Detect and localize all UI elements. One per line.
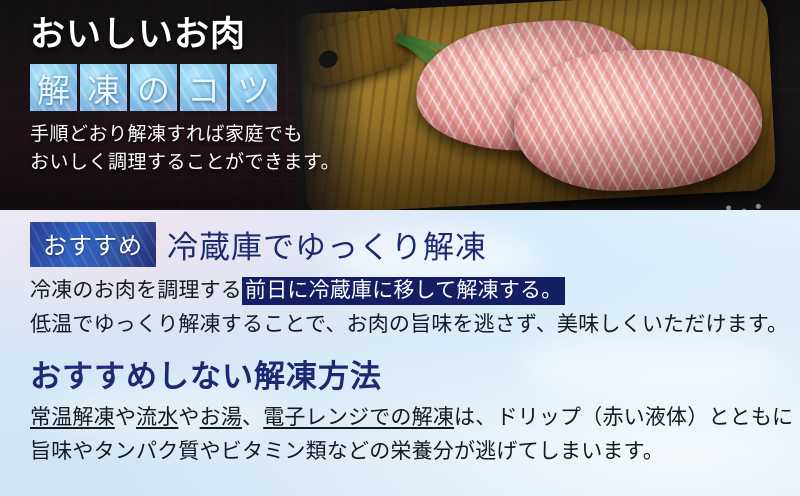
- sep-1: や: [115, 405, 136, 429]
- not-recommended-line-1: 常温解凍や流水やお湯、電子レンジでの解凍は、ドリップ（赤い液体）とともに: [30, 402, 786, 434]
- not-recommended-line-1-tail: は、ドリップ（赤い液体）とともに: [454, 405, 793, 429]
- ice-char-5: ツ: [230, 64, 277, 111]
- content-inner: おすすめ 冷蔵庫でゆっくり解凍 冷凍のお肉を調理する前日に冷蔵庫に移して解凍する…: [30, 222, 786, 470]
- sep-3: 、: [242, 405, 263, 429]
- method-microwave: 電子レンジでの解凍: [263, 405, 454, 429]
- content-section: おすすめ 冷蔵庫でゆっくり解凍 冷凍のお肉を調理する前日に冷蔵庫に移して解凍する…: [0, 210, 800, 496]
- recommended-highlight: 前日に冷蔵庫に移して解凍する。: [242, 277, 565, 305]
- recommended-badge: おすすめ: [30, 222, 156, 267]
- method-hot-water: お湯: [200, 405, 242, 429]
- ice-char-2: 凍: [80, 64, 127, 111]
- hero-lead-line-1: 手順どおり解凍すれば家庭でも: [30, 124, 303, 145]
- not-recommended-line-2: 旨味やタンパク質やビタミン類などの栄養分が逃げてしまいます。: [30, 436, 786, 468]
- method-room-temperature: 常温解凍: [30, 405, 115, 429]
- hero-lead: 手順どおり解凍すれば家庭でも おいしく調理することができます。: [30, 121, 370, 177]
- hero-title: おいしいお肉: [30, 14, 370, 55]
- recommended-line-1-text: 冷凍のお肉を調理する: [30, 278, 242, 302]
- recommended-heading-row: おすすめ 冷蔵庫でゆっくり解凍: [30, 222, 786, 267]
- recommended-heading: 冷蔵庫でゆっくり解凍: [167, 222, 487, 267]
- ice-char-1: 解: [30, 64, 77, 111]
- hero-section: おいしいお肉 解 凍 の コ ツ 手順どおり解凍すれば家庭でも おいしく調理する…: [0, 0, 800, 210]
- recommended-line-1: 冷凍のお肉を調理する前日に冷蔵庫に移して解凍する。: [30, 275, 786, 307]
- recommended-line-2: 低温でゆっくり解凍することで、お肉の旨味を逃さず、美味しくいただけます。: [30, 309, 786, 341]
- ice-word: 解 凍 の コ ツ: [30, 64, 370, 111]
- ice-char-4: コ: [180, 64, 227, 111]
- hero-lead-line-2: おいしく調理することができます。: [30, 152, 340, 173]
- ice-char-3: の: [130, 64, 177, 111]
- method-running-water: 流水: [136, 405, 178, 429]
- infographic-page: おいしいお肉 解 凍 の コ ツ 手順どおり解凍すれば家庭でも おいしく調理する…: [0, 0, 800, 496]
- hero-copy: おいしいお肉 解 凍 の コ ツ 手順どおり解凍すれば家庭でも おいしく調理する…: [30, 14, 370, 178]
- not-recommended-heading: おすすめしない解凍方法: [30, 351, 786, 396]
- sep-2: や: [178, 405, 199, 429]
